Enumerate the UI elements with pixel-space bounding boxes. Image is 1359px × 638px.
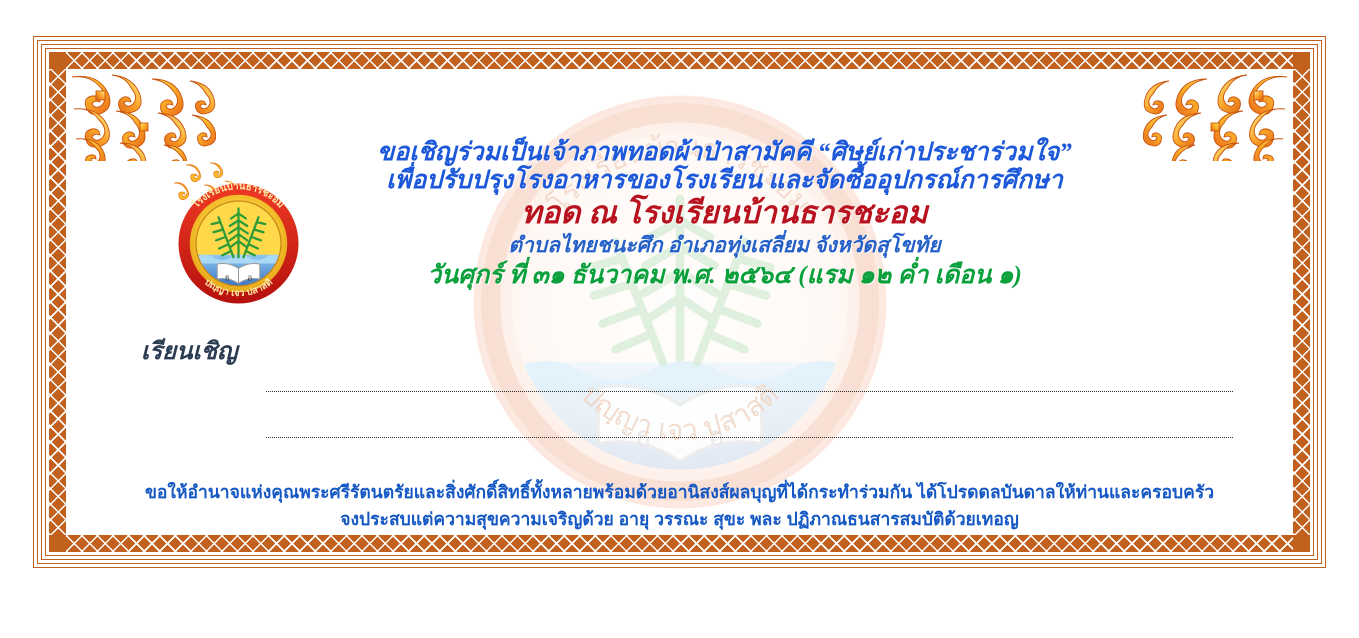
svg-text:ปญฺญา เจว ปสาสติ: ปญฺญา เจว ปสาสติ (575, 378, 784, 446)
headline-line-1: ขอเชิญร่วมเป็นเจ้าภาพทอดผ้าป่าสามัคคี “ศ… (216, 139, 1233, 167)
recipient-line-1[interactable] (266, 391, 1233, 392)
address-line: ตำบลไทยชนะศึก อำเภอทุ่งเสลี่ยม จังหวัดสุ… (216, 234, 1233, 258)
blessing-line-2: จงประสบแต่ความสุขความเจริญด้วย อายุ วรรณ… (91, 506, 1268, 533)
kanok-flame-ornament-top-left (66, 69, 216, 161)
venue-line: ทอด ณ โรงเรียนบ้านธารชะอม (216, 196, 1233, 231)
headline-block: ขอเชิญร่วมเป็นเจ้าภาพทอดผ้าป่าสามัคคี “ศ… (216, 139, 1233, 290)
invitation-page: ธ อ โรงเรียนบ้านธารชะอม ปญฺญา เจว ปสาสติ (0, 0, 1359, 638)
recipient-line-2[interactable] (266, 437, 1233, 438)
headline-line-2: เพื่อปรับปรุงโรงอาหารของโรงเรียน และจัดซ… (216, 167, 1233, 195)
blessing-line-1: ขอให้อำนาจแห่งคุณพระศรีรัตนตรัยและสิ่งศั… (91, 479, 1268, 506)
invitation-body: ธ อ โรงเรียนบ้านธารชะอม ปญฺญา เจว ปสาสติ (66, 69, 1293, 535)
invitation-card: ธ อ โรงเรียนบ้านธารชะอม ปญฺญา เจว ปสาสติ (33, 36, 1326, 568)
salutation-label: เรียนเชิญ (141, 331, 238, 370)
blessing-block: ขอให้อำนาจแห่งคุณพระศรีรัตนตรัยและสิ่งศั… (91, 479, 1268, 532)
date-line: วันศุกร์ ที่ ๓๑ ธันวาคม พ.ศ. ๒๕๖๔ (แรม ๑… (216, 262, 1233, 290)
